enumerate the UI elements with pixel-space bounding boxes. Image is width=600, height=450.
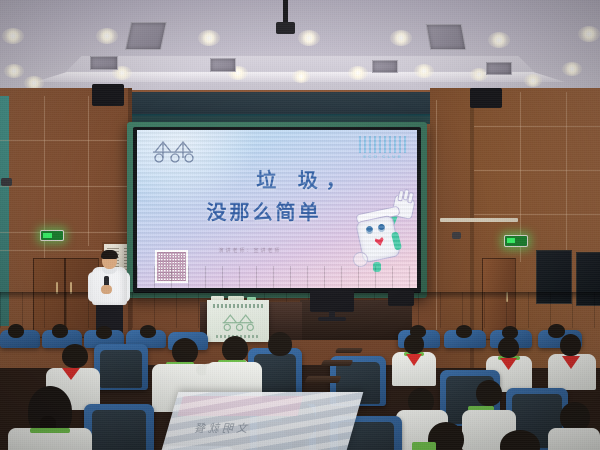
exit-sign-right xyxy=(504,235,528,247)
wall-panel-line xyxy=(474,126,600,127)
banner-eco-logo-icon xyxy=(219,312,257,332)
seat-desk-arm[interactable] xyxy=(335,348,363,353)
wall-panel-line xyxy=(0,186,130,187)
ceiling-vent xyxy=(125,22,167,50)
ceiling-light xyxy=(96,28,118,44)
student-uniform xyxy=(548,428,600,450)
student-head xyxy=(140,325,156,338)
screen-scanlines xyxy=(137,130,417,288)
ceiling-light xyxy=(414,64,434,78)
ceiling-light xyxy=(298,30,320,46)
wall-speaker-right xyxy=(470,88,502,108)
ceiling-light xyxy=(292,70,310,83)
ceiling-light xyxy=(562,62,582,76)
ceiling-light xyxy=(390,30,412,46)
ceiling-light xyxy=(2,28,24,44)
student-head xyxy=(476,380,502,406)
ceiling-light xyxy=(488,32,510,48)
ceiling-light xyxy=(578,26,600,42)
ceiling-vent xyxy=(486,62,512,75)
banner-logo-svg xyxy=(219,312,257,332)
presentation-slide: ECO CLUB 垃 圾， 没那么简单 演讲老师：宣讲老师 xyxy=(137,130,417,288)
ceiling-vent xyxy=(90,56,118,70)
ceiling-vent xyxy=(210,58,236,72)
student-head xyxy=(268,332,292,356)
wall-panel-line xyxy=(0,232,130,233)
glass-reflection-text: 文明就餐 xyxy=(190,420,251,436)
stage-speaker-box xyxy=(388,290,414,306)
auditorium-photo: ECO CLUB 垃 圾， 没那么简单 演讲老师：宣讲老师 xyxy=(0,0,600,450)
ceiling-light xyxy=(198,30,220,46)
ceiling-light xyxy=(348,66,368,80)
ceiling-vent xyxy=(372,60,398,73)
wall-speaker-left xyxy=(92,84,124,106)
glass-reflection-sheen xyxy=(162,392,364,450)
presenter-hair xyxy=(101,250,118,259)
seat-cushion xyxy=(92,410,146,450)
stage-monitor xyxy=(310,288,354,312)
student-collar xyxy=(30,428,70,433)
seat-desk-arm[interactable] xyxy=(304,376,341,383)
student-head xyxy=(52,324,68,338)
exit-sign-glow xyxy=(507,238,515,243)
student-head xyxy=(96,326,112,339)
security-camera xyxy=(1,178,12,186)
wall-panel-line xyxy=(474,170,600,171)
ceiling-light xyxy=(4,64,24,78)
student-head xyxy=(498,337,519,358)
banner-top-text xyxy=(213,304,263,308)
wall-rail xyxy=(440,218,518,222)
wall-panel-line xyxy=(88,96,89,246)
student-collar xyxy=(412,442,436,450)
student-head xyxy=(560,334,581,356)
monitor-stand-base xyxy=(318,317,346,321)
seat-cushion xyxy=(100,350,142,388)
student-head xyxy=(62,344,88,368)
security-camera xyxy=(452,232,461,239)
student-head xyxy=(8,324,24,338)
exit-sign-left xyxy=(40,230,64,241)
presenter-hand xyxy=(101,285,112,294)
student-head xyxy=(222,336,248,362)
reflective-floor-panel: 文明就餐 xyxy=(162,392,364,450)
wall-panel-line xyxy=(566,92,567,262)
wall-panel-line xyxy=(474,214,600,215)
ceiling-light xyxy=(524,74,542,87)
exit-sign-glow xyxy=(43,233,52,238)
wall-panel-line xyxy=(0,140,130,141)
ceiling-projector xyxy=(276,22,295,34)
student-head xyxy=(172,338,198,364)
ceiling-vent xyxy=(426,24,467,50)
student-head xyxy=(456,325,472,338)
seat-desk-arm[interactable] xyxy=(321,360,354,366)
student-head xyxy=(404,334,424,354)
